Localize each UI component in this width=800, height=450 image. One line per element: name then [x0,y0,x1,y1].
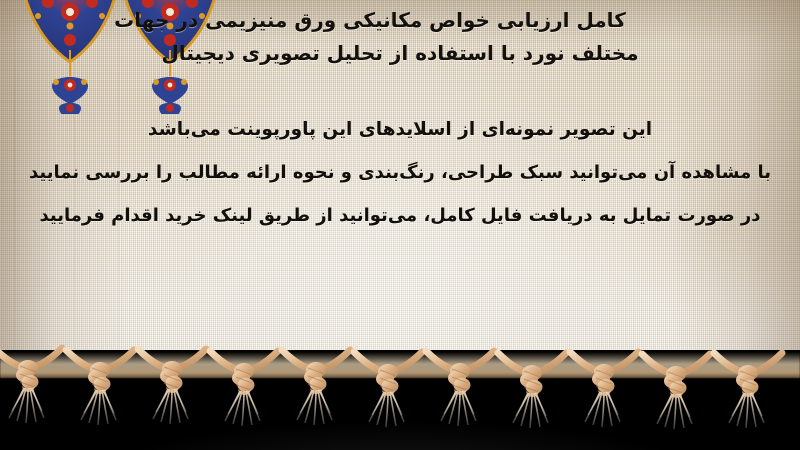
tassel-fringe [0,336,800,382]
slide-canvas: کامل ارزیابی خواص مکانیکی ورق منیزیمی در… [0,0,800,450]
title-line-2: مختلف نورد با استفاده از تحلیل تصویری دی… [0,37,800,70]
tassel-fringe-icon [0,336,800,446]
slide-body: این تصویر نمونه‌ای از اسلایدهای این پاور… [0,108,800,237]
body-line-2: با مشاهده آن می‌توانید سبک طراحی، رنگ‌بن… [0,151,800,194]
body-line-3: در صورت تمایل به دریافت فایل کامل، می‌تو… [0,194,800,237]
title-line-1: کامل ارزیابی خواص مکانیکی ورق منیزیمی در… [0,4,800,37]
body-line-1: این تصویر نمونه‌ای از اسلایدهای این پاور… [0,108,800,151]
slide-title: کامل ارزیابی خواص مکانیکی ورق منیزیمی در… [0,4,800,70]
